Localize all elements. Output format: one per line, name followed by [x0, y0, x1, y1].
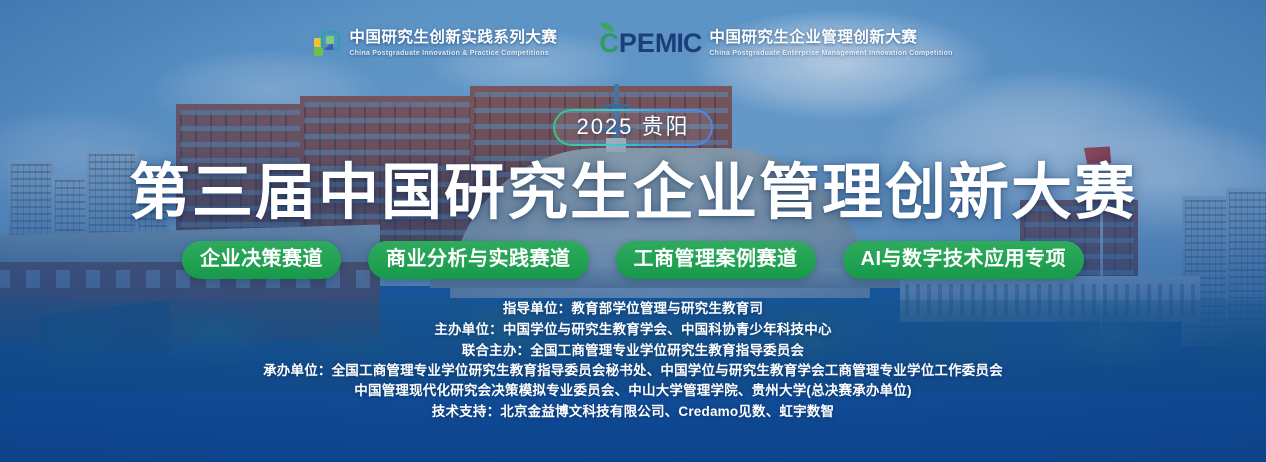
cpipc-logo-en: China Postgraduate Innovation & Practice…	[349, 49, 557, 58]
banner-content: 中国研究生创新实践系列大赛 China Postgraduate Innovat…	[0, 0, 1266, 462]
cpemic-logo-en: China Postgraduate Enterprise Management…	[709, 49, 952, 58]
track-pill-mba-case[interactable]: 工商管理案例赛道	[616, 241, 816, 279]
logo-row: 中国研究生创新实践系列大赛 China Postgraduate Innovat…	[0, 30, 1266, 58]
track-pill-enterprise-decision[interactable]: 企业决策赛道	[182, 241, 341, 279]
competition-banner: 中国研究生创新实践系列大赛 China Postgraduate Innovat…	[0, 0, 1266, 462]
organizer-credits: 指导单位：教育部学位管理与研究生教育司 主办单位：中国学位与研究生教育学会、中国…	[0, 298, 1266, 422]
cpemic-letters-mic: MIC	[655, 30, 702, 57]
track-pill-row: 企业决策赛道 商业分析与实践赛道 工商管理案例赛道 AI与数字技术应用专项	[0, 241, 1266, 279]
cpipc-logo-cn: 中国研究生创新实践系列大赛	[349, 30, 557, 46]
track-pill-business-analytics[interactable]: 商业分析与实践赛道	[368, 241, 589, 279]
cpemic-letter-e: E	[637, 30, 654, 57]
year-badge-wrapper: 2025 贵阳	[0, 109, 1266, 146]
org-line-host: 主办单位：中国学位与研究生教育学会、中国科协青少年科技中心	[0, 319, 1266, 340]
page-title: 第三届中国研究生企业管理创新大赛	[0, 160, 1266, 226]
cpemic-letter-c: C	[599, 30, 618, 57]
track-pill-ai-digital[interactable]: AI与数字技术应用专项	[843, 241, 1085, 279]
org-line-cohost: 联合主办：全国工商管理专业学位研究生教育指导委员会	[0, 340, 1266, 361]
cpipc-square-logo-icon	[313, 30, 341, 58]
cpemic-logo: C P E MIC 中国研究生企业管理创新大赛 China Postgradua…	[599, 30, 952, 57]
cpemic-letter-p: P	[619, 30, 636, 57]
cpemic-wordmark-icon: C P E MIC	[599, 30, 701, 57]
org-line-tech-support: 技术支持：北京金益博文科技有限公司、Credamo见数、虹宇数智	[0, 401, 1266, 422]
org-line-guidance: 指导单位：教育部学位管理与研究生教育司	[0, 298, 1266, 319]
cpipc-logo: 中国研究生创新实践系列大赛 China Postgraduate Innovat…	[313, 30, 557, 58]
org-line-organizer-2: 中国管理现代化研究会决策模拟专业委员会、中山大学管理学院、贵州大学(总决赛承办单…	[0, 381, 1266, 401]
year-location-badge: 2025 贵阳	[553, 109, 712, 146]
org-line-organizer-1: 承办单位：全国工商管理专业学位研究生教育指导委员会秘书处、中国学位与研究生教育学…	[0, 361, 1266, 381]
cpemic-logo-cn: 中国研究生企业管理创新大赛	[709, 30, 952, 46]
